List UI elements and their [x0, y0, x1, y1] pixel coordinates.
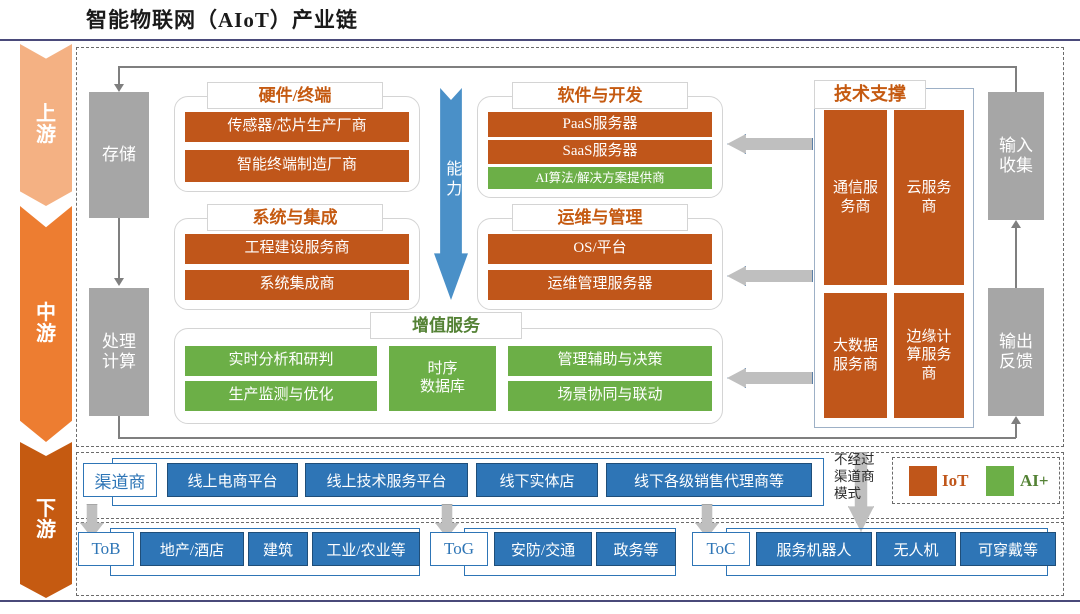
connector-out-in [1015, 228, 1017, 288]
group-hardware-item-1: 智能终端制造厂商 [185, 150, 409, 182]
top-divider [0, 39, 1080, 41]
stage-midstream-label: 中 游 [36, 303, 56, 345]
tog-item-1: 政务等 [596, 532, 676, 566]
toc-item-0: 服务机器人 [756, 532, 872, 566]
connector-loop-top [119, 66, 1016, 68]
stage-upstream-label: 上 游 [36, 104, 56, 146]
connector-proc-out-h [118, 437, 1016, 439]
pipeline-output: 输出 反馈 [988, 288, 1044, 416]
group-value-added-item-0: 实时分析和研判 [185, 346, 377, 376]
arrowhead-to-processing [114, 278, 124, 286]
legend-swatch-iot [909, 466, 937, 496]
pipeline-processing: 处理 计算 [89, 288, 149, 416]
pipeline-output-label: 输出 反馈 [999, 332, 1033, 371]
capability-arrow-label: 能力 [442, 160, 460, 200]
toc-item-2: 可穿戴等 [960, 532, 1056, 566]
group-value-added-title: 增值服务 [370, 312, 522, 339]
channel-item-3: 线下各级销售代理商等 [606, 463, 812, 497]
tob-item-2: 工业/农业等 [312, 532, 420, 566]
toc-item-1: 无人机 [876, 532, 956, 566]
tob-item-1: 建筑 [248, 532, 308, 566]
group-software-item-0: PaaS服务器 [488, 112, 712, 137]
arrowhead-to-storage [114, 84, 124, 92]
tech-support-item-0: 通信服务商 [824, 110, 887, 285]
group-value-added-item-1: 生产监测与优化 [185, 381, 377, 411]
channel-item-0: 线上电商平台 [167, 463, 298, 497]
connector-storage-down [118, 66, 120, 86]
pipeline-processing-label: 处理 计算 [102, 332, 136, 371]
stage-upstream: 上 游 [20, 44, 72, 206]
group-system-item-1: 系统集成商 [185, 270, 409, 300]
group-software-item-1: SaaS服务器 [488, 140, 712, 164]
stage-downstream-label: 下 游 [36, 499, 56, 541]
stage-downstream: 下 游 [20, 442, 72, 598]
tech-support-item-1: 云服务商 [894, 110, 964, 285]
connector-input-up [1015, 66, 1017, 92]
arrowhead-out-to-in [1011, 220, 1021, 228]
pipeline-input-label: 输入 收集 [999, 136, 1033, 175]
group-software-title: 软件与开发 [512, 82, 688, 109]
tech-support-item-3: 边缘计算服务商 [894, 293, 964, 418]
channel-item-1: 线上技术服务平台 [305, 463, 468, 497]
tob-item-0: 地产/酒店 [140, 532, 244, 566]
legend-label-iot: IoT [942, 471, 968, 491]
stage-midstream: 中 游 [20, 206, 72, 442]
connector-store-proc [118, 218, 120, 280]
group-value-added-item-2: 时序 数据库 [389, 346, 496, 411]
pipeline-input: 输入 收集 [988, 92, 1044, 220]
tog-tag: ToG [430, 532, 488, 566]
tech-support-item-2: 大数据服务商 [824, 293, 887, 418]
group-value-added-item-4: 场景协同与联动 [508, 381, 712, 411]
group-ops-item-1: 运维管理服务器 [488, 270, 712, 300]
tob-tag: ToB [78, 532, 134, 566]
direct-channel-note: 不经过 渠道商 模式 [834, 452, 892, 503]
connector-proc-out-v [118, 416, 120, 438]
pipeline-storage-label: 存储 [102, 145, 136, 165]
channel-tag: 渠道商 [83, 463, 157, 497]
group-system-item-0: 工程建设服务商 [185, 234, 409, 264]
group-ops-title: 运维与管理 [512, 204, 688, 231]
group-software-item-2: AI算法/解决方案提供商 [488, 167, 712, 189]
legend-swatch-ai [986, 466, 1014, 496]
group-hardware-title: 硬件/终端 [207, 82, 383, 109]
page-title: 智能物联网（AIoT）产业链 [86, 4, 358, 34]
channel-item-2: 线下实体店 [476, 463, 598, 497]
tech-support-title: 技术支撑 [814, 80, 926, 109]
bottom-divider [0, 600, 1080, 602]
group-hardware-item-0: 传感器/芯片生产厂商 [185, 112, 409, 142]
group-value-added-item-3: 管理辅助与决策 [508, 346, 712, 376]
legend-label-ai: AI+ [1020, 471, 1049, 491]
toc-tag: ToC [692, 532, 750, 566]
arrowhead-to-output [1011, 416, 1021, 424]
pipeline-storage: 存储 [89, 92, 149, 218]
tog-item-0: 安防/交通 [494, 532, 592, 566]
group-ops-item-0: OS/平台 [488, 234, 712, 264]
group-system-title: 系统与集成 [207, 204, 383, 231]
connector-output-up [1015, 424, 1017, 438]
